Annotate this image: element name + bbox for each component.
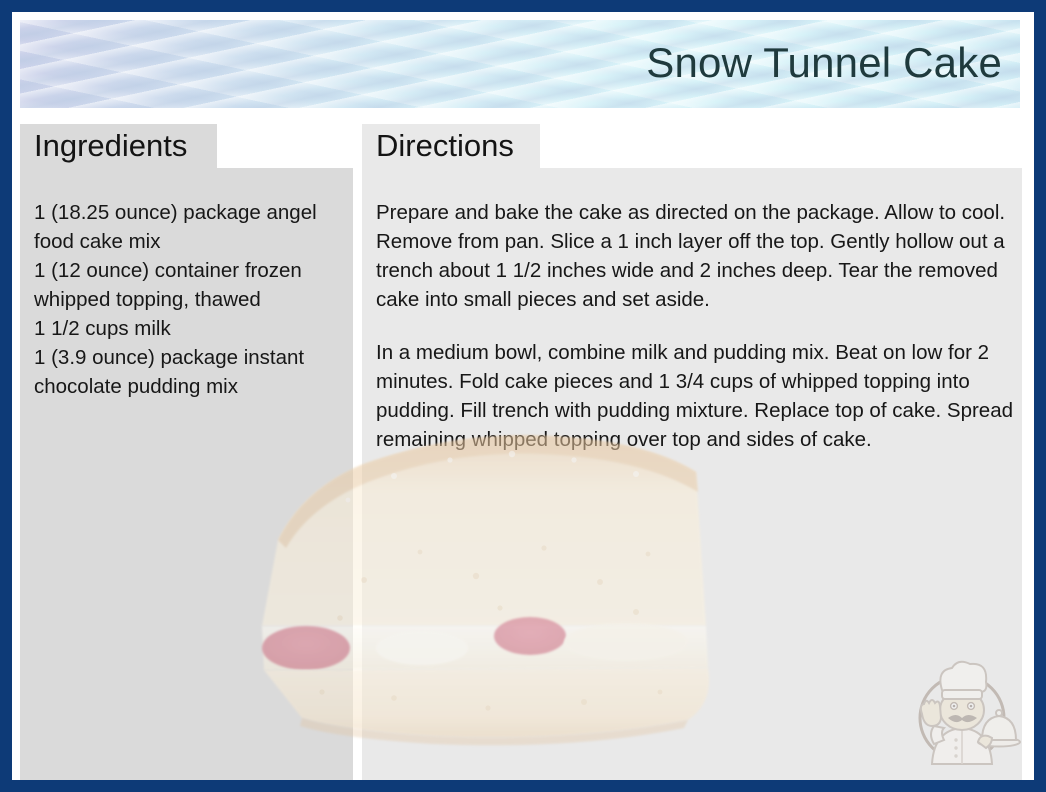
header-banner: Snow Tunnel Cake [20, 20, 1020, 108]
recipe-card: Snow Tunnel Cake Ingredients 1 (18.25 ou… [0, 0, 1046, 792]
list-item: 1 (3.9 ounce) package instant chocolate … [34, 343, 344, 401]
list-item: 1 (18.25 ounce) package angel food cake … [34, 198, 344, 256]
directions-heading-label: Directions [376, 128, 514, 164]
directions-panel: Directions Prepare and bake the cake as … [362, 124, 1022, 780]
list-item: 1 (12 ounce) container frozen whipped to… [34, 256, 344, 314]
directions-paragraph: In a medium bowl, combine milk and puddi… [376, 338, 1014, 454]
ingredients-list: 1 (18.25 ounce) package angel food cake … [34, 198, 344, 401]
page-title: Snow Tunnel Cake [646, 39, 1002, 87]
directions-body: Prepare and bake the cake as directed on… [376, 198, 1014, 454]
ingredients-heading-label: Ingredients [34, 128, 187, 164]
ingredients-panel: Ingredients 1 (18.25 ounce) package ange… [20, 124, 353, 780]
recipe-card-inner: Snow Tunnel Cake Ingredients 1 (18.25 ou… [12, 12, 1034, 780]
ingredients-heading-tab: Ingredients [20, 124, 217, 168]
directions-paragraph: Prepare and bake the cake as directed on… [376, 198, 1014, 314]
directions-tab-notch [540, 124, 1022, 168]
directions-heading-tab: Directions [362, 124, 540, 168]
list-item: 1 1/2 cups milk [34, 314, 344, 343]
ingredients-tab-notch [217, 124, 353, 168]
